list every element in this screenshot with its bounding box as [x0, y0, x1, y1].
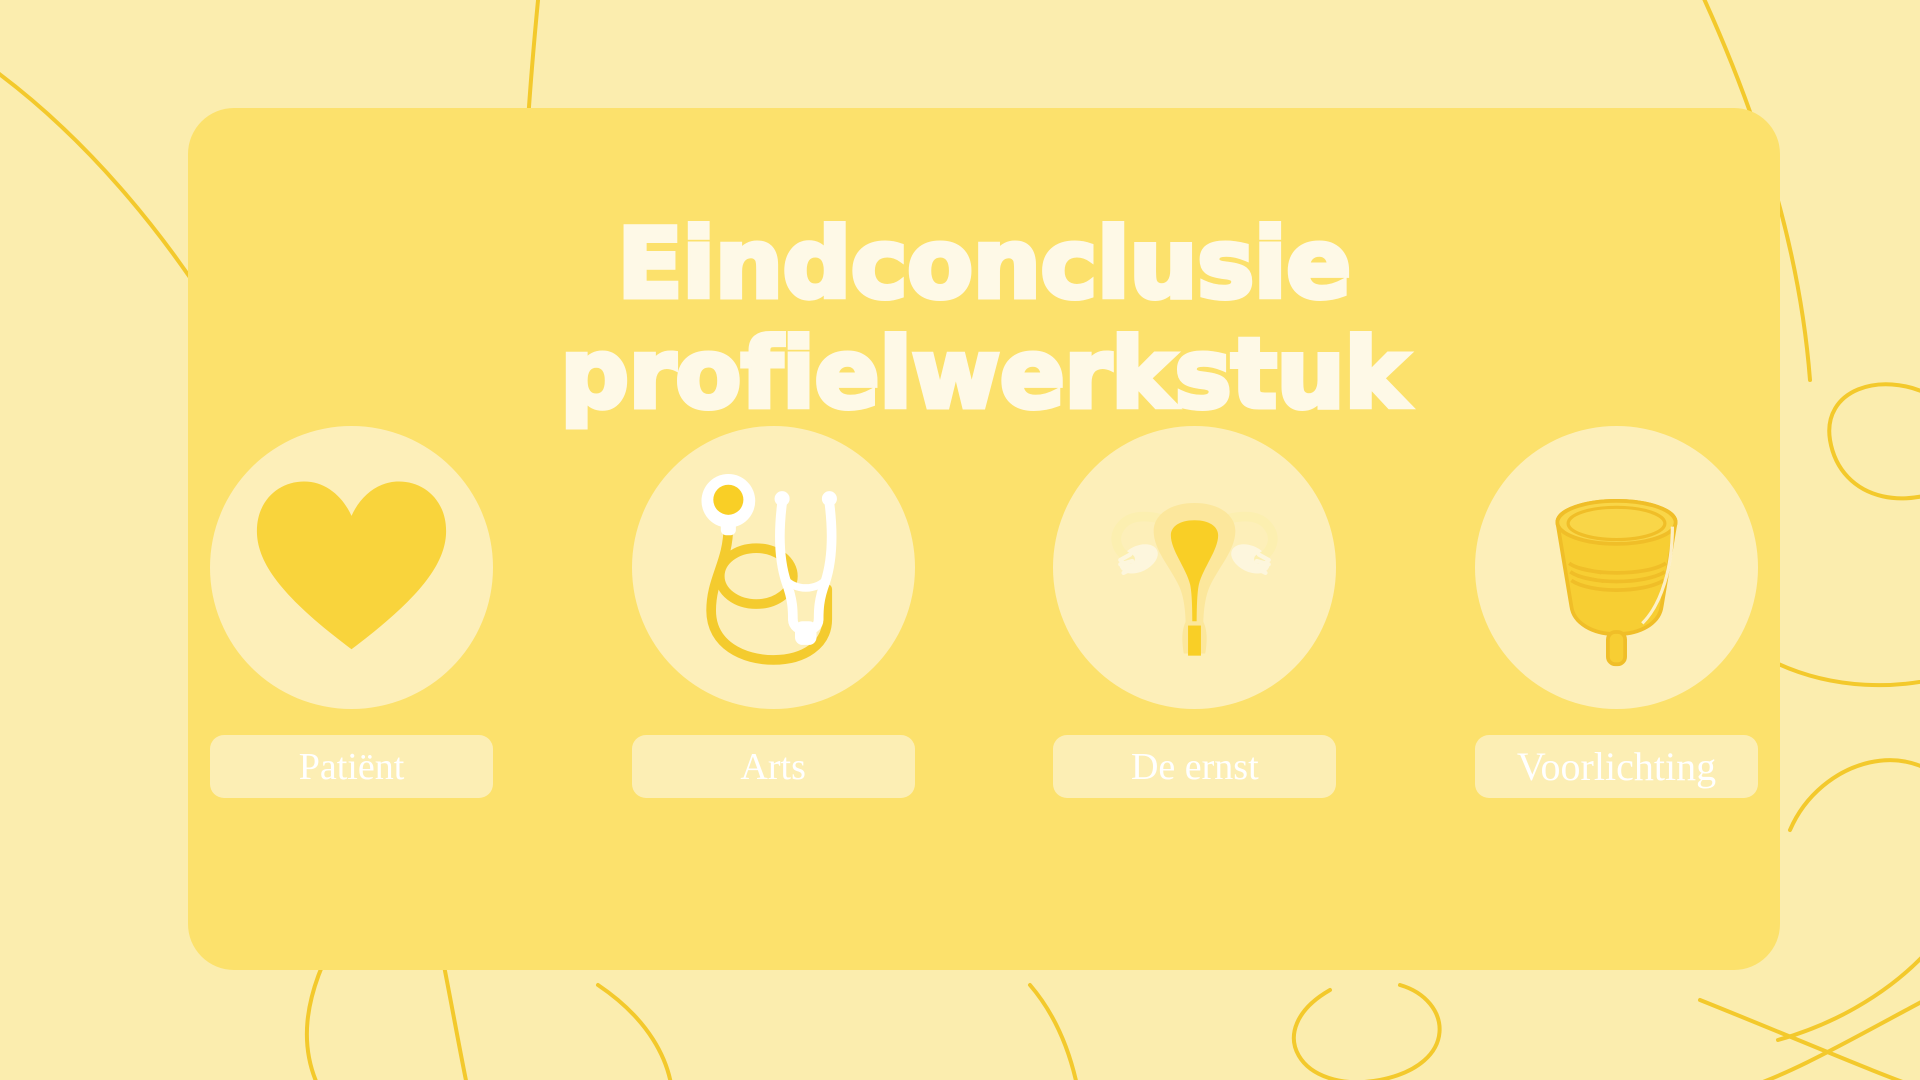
squiggle-right-horizontal [1770, 660, 1920, 685]
topic-pill-arts[interactable]: Arts [632, 735, 915, 798]
icon-circle-voorlichting [1475, 426, 1758, 709]
topic-columns: Patiënt [210, 426, 1758, 798]
topic-column-patient[interactable]: Patiënt [210, 426, 493, 798]
main-card: Eindconclusie profielwerkstuk Patiënt [188, 108, 1780, 970]
squiggle-bottom-right-loop [1294, 985, 1440, 1080]
topic-column-arts[interactable]: Arts [632, 426, 915, 798]
topic-label-de-ernst: De ernst [1131, 748, 1259, 786]
squiggle-bottom-left-2 [598, 985, 672, 1080]
topic-label-patient: Patiënt [299, 748, 405, 786]
heart-icon [244, 460, 459, 675]
page-title-line-2: profielwerkstuk [248, 320, 1720, 429]
squiggle-bottom-right-cross-1 [1700, 1000, 1920, 1080]
icon-circle-patient [210, 426, 493, 709]
page-title-line-1: Eindconclusie [248, 210, 1720, 319]
topic-pill-voorlichting[interactable]: Voorlichting [1475, 735, 1758, 798]
stethoscope-icon [666, 460, 881, 675]
icon-circle-de-ernst [1053, 426, 1336, 709]
topic-pill-patient[interactable]: Patiënt [210, 735, 493, 798]
icon-circle-arts [632, 426, 915, 709]
menstrual-cup-icon [1509, 460, 1724, 675]
topic-label-voorlichting: Voorlichting [1517, 747, 1716, 787]
topic-pill-de-ernst[interactable]: De ernst [1053, 735, 1336, 798]
squiggle-top-right-loop [1829, 384, 1920, 498]
squiggle-bottom-right-cross-2 [1740, 1000, 1920, 1080]
squiggle-right-loop [1778, 760, 1920, 1040]
topic-column-voorlichting[interactable]: Voorlichting [1475, 426, 1758, 798]
page-title: Eindconclusie profielwerkstuk [188, 210, 1780, 429]
topic-column-de-ernst[interactable]: De ernst [1053, 426, 1336, 798]
topic-label-arts: Arts [740, 748, 805, 786]
uterus-icon [1087, 460, 1302, 675]
squiggle-bottom-centre [1030, 985, 1078, 1080]
